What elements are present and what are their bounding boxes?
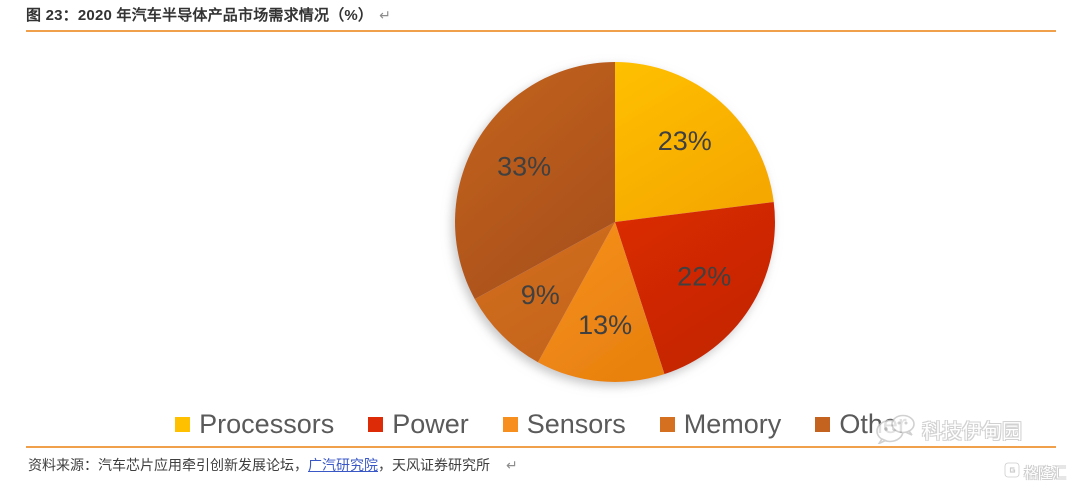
paragraph-mark-icon: ↵ [506, 457, 518, 473]
legend-item-other[interactable]: Other [815, 411, 907, 438]
paragraph-mark-icon: ↵ [379, 7, 391, 23]
legend-swatch-memory-icon [660, 417, 675, 432]
legend-label-power: Power [392, 411, 469, 438]
legend-label-processors: Processors [199, 411, 334, 438]
pie-slice-label-processors: 23% [658, 126, 712, 156]
pie-slice-label-memory: 9% [521, 280, 560, 310]
source-link-gac-institute[interactable]: 广汽研究院 [308, 457, 378, 473]
chart-area: 23%22%13%9%33% ProcessorsPowerSensorsMem… [26, 32, 1056, 446]
legend-swatch-other-icon [815, 417, 830, 432]
gelonghui-name: 格隆汇 [1024, 463, 1066, 483]
legend-label-sensors: Sensors [527, 411, 626, 438]
legend-swatch-processors-icon [175, 417, 190, 432]
source-divider [26, 446, 1056, 448]
gelonghui-logo-icon [1004, 462, 1020, 483]
figure-number: 图 23： [26, 7, 78, 24]
pie-slice-label-other: 33% [497, 151, 551, 181]
figure-title: 图 23：2020 年汽车半导体产品市场需求情况（%）↵ [26, 4, 391, 25]
source-prefix: 资料来源： [28, 457, 98, 473]
figure-title-text: 2020 年汽车半导体产品市场需求情况（%） [78, 7, 373, 24]
pie-chart-svg: 23%22%13%9%33% [26, 32, 1056, 402]
pie-slice-label-sensors: 13% [578, 310, 632, 340]
pie-chart: 23%22%13%9%33% [26, 32, 1056, 402]
source-text-2: ，天风证券研究所 [378, 457, 490, 473]
gelonghui-watermark: 格隆汇 [1004, 462, 1066, 483]
legend-swatch-sensors-icon [503, 417, 518, 432]
legend-label-memory: Memory [684, 411, 782, 438]
legend-label-other: Other [839, 411, 907, 438]
legend-item-power[interactable]: Power [368, 411, 469, 438]
legend-swatch-power-icon [368, 417, 383, 432]
legend-item-sensors[interactable]: Sensors [503, 411, 626, 438]
source-text-1: 汽车芯片应用牵引创新发展论坛， [98, 457, 308, 473]
legend-item-processors[interactable]: Processors [175, 411, 334, 438]
chart-legend: ProcessorsPowerSensorsMemoryOther [26, 404, 1056, 444]
source-note: 资料来源：汽车芯片应用牵引创新发展论坛，广汽研究院，天风证券研究所↵ [28, 455, 518, 475]
pie-slice-label-power: 22% [677, 262, 731, 292]
legend-item-memory[interactable]: Memory [660, 411, 782, 438]
